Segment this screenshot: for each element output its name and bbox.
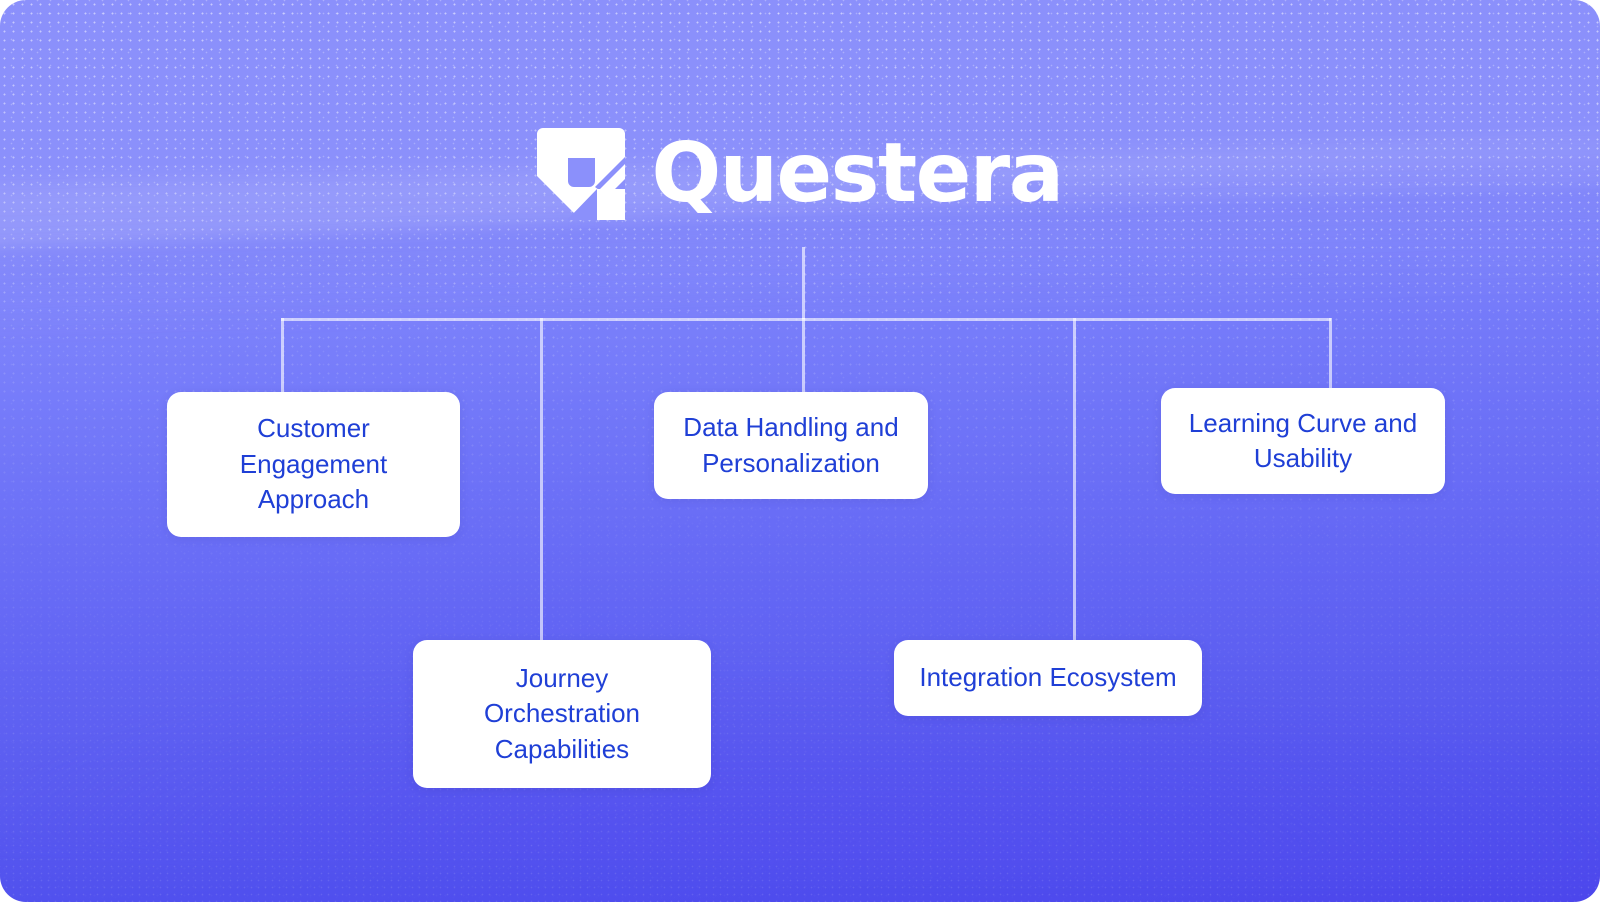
node-label: Customer Engagement Approach — [240, 411, 387, 517]
diagram-canvas: Questera Customer Engagement Approach Da… — [0, 0, 1600, 902]
diagram-node-customer-engagement-approach[interactable]: Customer Engagement Approach — [167, 392, 460, 537]
node-label: Journey Orchestration Capabilities — [484, 661, 640, 767]
node-label: Data Handling and Personalization — [683, 410, 898, 481]
node-label: Learning Curve and Usability — [1189, 406, 1417, 477]
diagram-node-integration-ecosystem[interactable]: Integration Ecosystem — [894, 640, 1202, 716]
diagram-node-journey-orchestration-capabilities[interactable]: Journey Orchestration Capabilities — [413, 640, 711, 788]
node-label: Integration Ecosystem — [919, 660, 1176, 695]
background-band-lower — [0, 630, 1600, 882]
diagram-node-data-handling-and-personalization[interactable]: Data Handling and Personalization — [654, 392, 928, 499]
diagram-node-learning-curve-and-usability[interactable]: Learning Curve and Usability — [1161, 388, 1445, 494]
